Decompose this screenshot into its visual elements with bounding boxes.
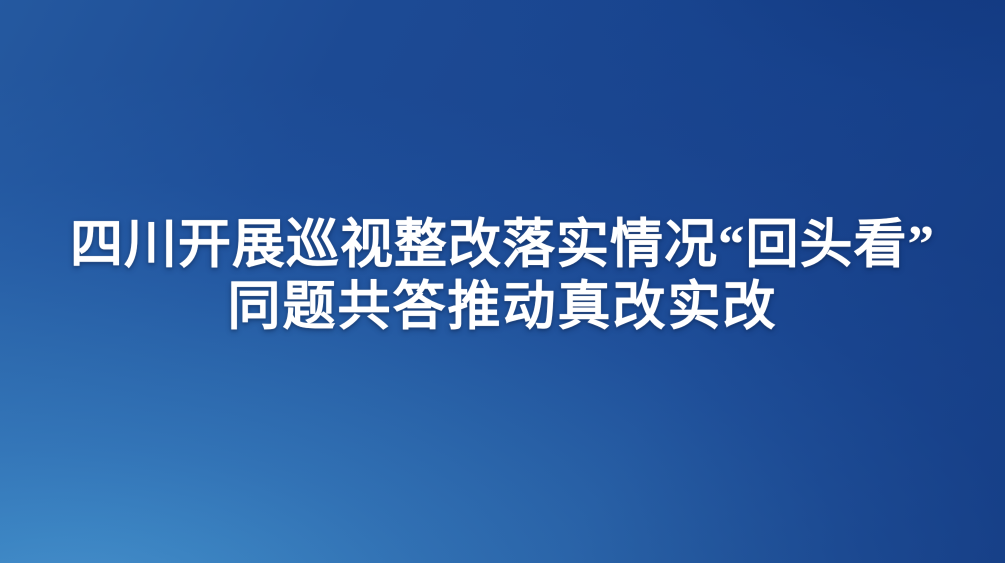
banner-slide: 四川开展巡视整改落实情况“回头看” 同题共答推动真改实改	[0, 0, 1005, 563]
title-line-1: 四川开展巡视整改落实情况“回头看”	[0, 214, 1005, 276]
banner-title: 四川开展巡视整改落实情况“回头看” 同题共答推动真改实改	[0, 214, 1005, 338]
title-line-2: 同题共答推动真改实改	[0, 276, 1005, 338]
